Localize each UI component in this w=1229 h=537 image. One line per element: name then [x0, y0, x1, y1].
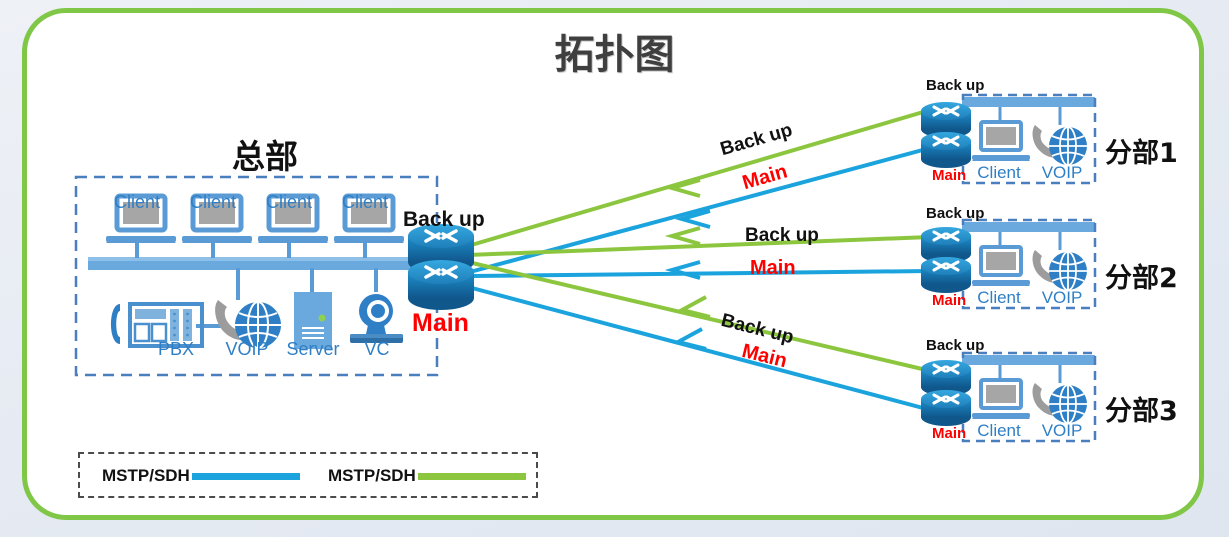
hq-client-label-3: Client: [258, 193, 320, 212]
legend-label-backup: MSTP/SDH: [328, 466, 416, 486]
legend-swatch-backup: [418, 473, 526, 480]
router-icon[interactable]: [921, 390, 971, 426]
branch2-router-backup-label: Back up: [926, 205, 984, 222]
branch3-client-label: Client: [971, 421, 1027, 440]
voip-globe-icon[interactable]: [1033, 250, 1087, 290]
branch1-title: 分部1: [1105, 131, 1178, 170]
video-camera-icon[interactable]: [350, 294, 403, 343]
page-title: 拓扑图: [0, 22, 1229, 80]
branch3-router-main-label: Main: [932, 425, 966, 442]
branch3-voip-label: VOIP: [1038, 421, 1086, 440]
hq-voip-label: VOIP: [222, 340, 272, 359]
branch2-voip-label: VOIP: [1038, 288, 1086, 307]
branch1-router-main-label: Main: [932, 167, 966, 184]
legend-item-main[interactable]: MSTP/SDH: [102, 466, 300, 486]
voip-globe-icon[interactable]: [1033, 125, 1087, 165]
voip-globe-icon[interactable]: [1033, 383, 1087, 423]
branch1-router-backup-label: Back up: [926, 77, 984, 94]
branch2-router-main-label: Main: [932, 292, 966, 309]
laptop-icon[interactable]: [972, 247, 1030, 286]
hq-pbx-label: PBX: [141, 340, 211, 359]
hq-client-label-2: Client: [182, 193, 244, 212]
hq-client-label-4: Client: [334, 193, 396, 212]
branch1-voip-label: VOIP: [1038, 163, 1086, 182]
laptop-icon[interactable]: [972, 380, 1030, 419]
hq-vc-label: VC: [352, 340, 402, 359]
hq-title: 总部: [150, 130, 380, 178]
laptop-icon[interactable]: [972, 122, 1030, 161]
router-icon[interactable]: [408, 260, 474, 310]
legend: MSTP/SDH MSTP/SDH: [78, 452, 538, 498]
link-label-branch2-backup: Back up: [745, 225, 819, 247]
hq-server-label: Server: [285, 340, 341, 359]
legend-item-backup[interactable]: MSTP/SDH: [328, 466, 526, 486]
router-icon[interactable]: [921, 257, 971, 293]
hq-client-label-1: Client: [106, 193, 168, 212]
branch1-client-label: Client: [971, 163, 1027, 182]
legend-swatch-main: [192, 473, 300, 480]
branch2-client-label: Client: [971, 288, 1027, 307]
hq-router-main-label: Main: [412, 309, 469, 338]
link-label-branch2-main: Main: [750, 257, 796, 280]
router-icon[interactable]: [921, 132, 971, 168]
hq-router-backup-label: Back up: [403, 208, 485, 232]
legend-label-main: MSTP/SDH: [102, 466, 190, 486]
branch3-title: 分部3: [1105, 389, 1178, 428]
branch3-router-backup-label: Back up: [926, 337, 984, 354]
branch2-title: 分部2: [1105, 256, 1178, 295]
